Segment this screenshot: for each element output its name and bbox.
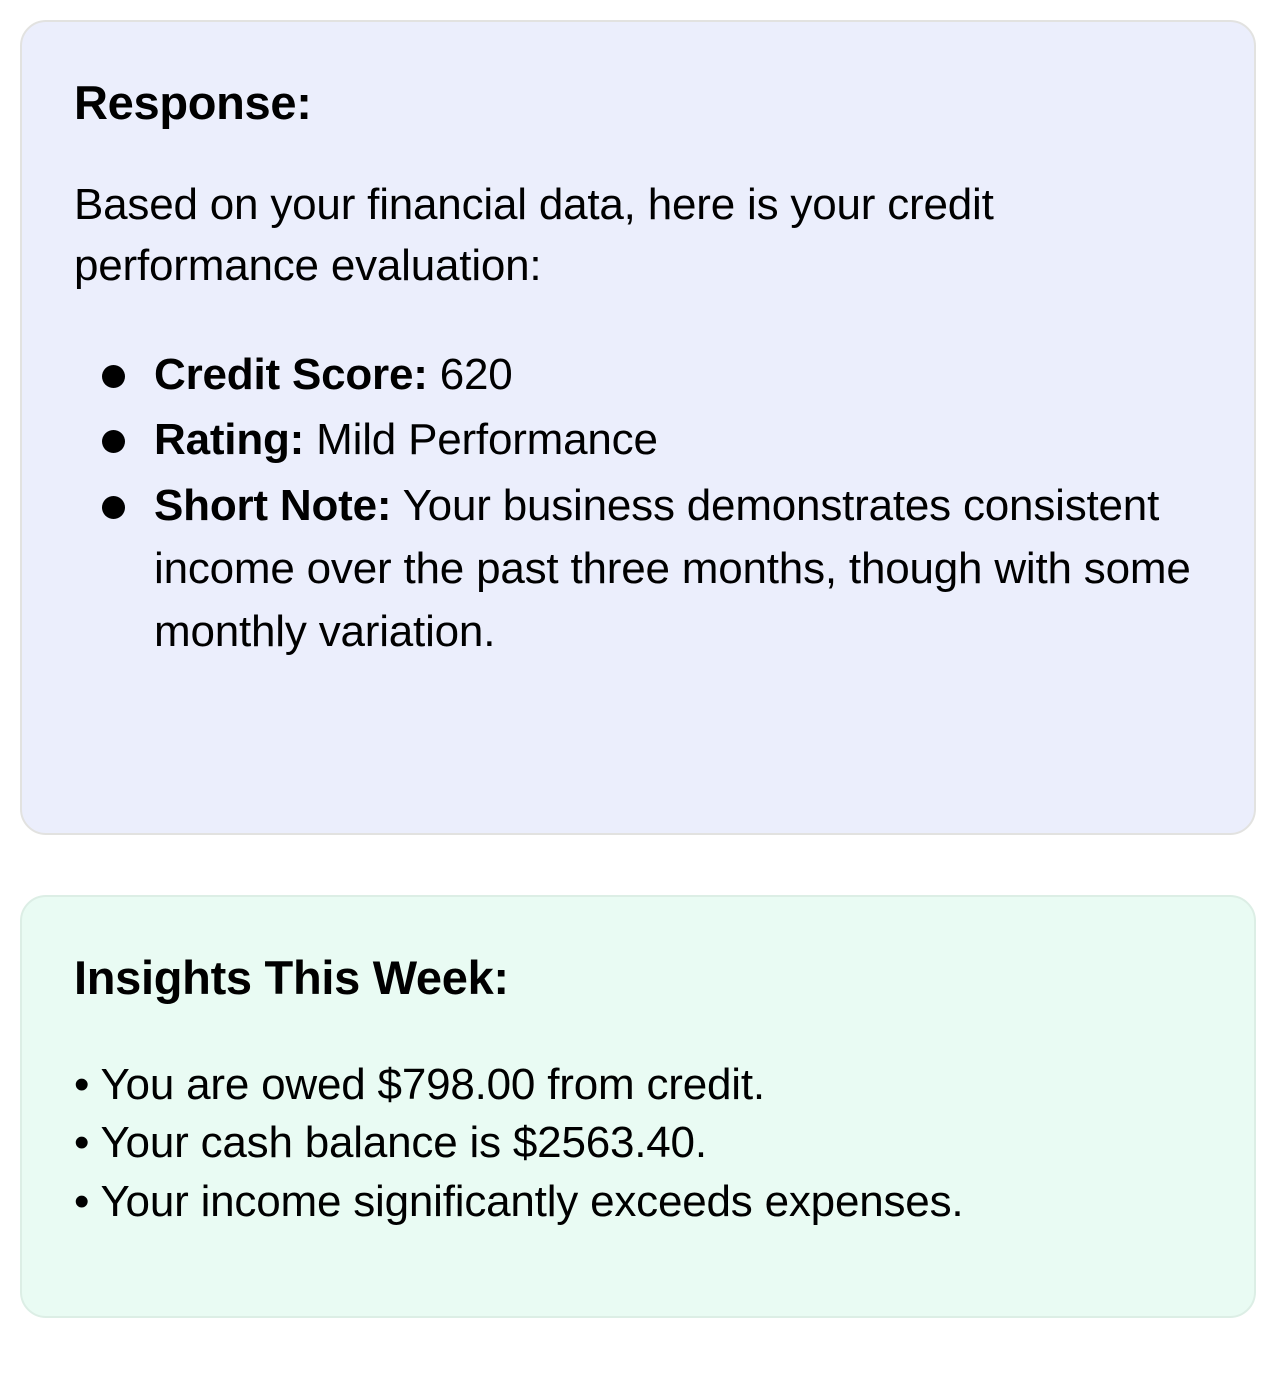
list-item: • Your income significantly exceeds expe… — [74, 1173, 1210, 1231]
insights-card-heading: Insights This Week: — [74, 953, 1210, 1002]
response-card: Response: Based on your financial data, … — [20, 20, 1256, 835]
response-card-heading: Response: — [74, 78, 1210, 127]
bullet-value: Mild Performance — [304, 415, 658, 464]
page-root: Response: Based on your financial data, … — [0, 0, 1276, 1396]
list-item: • You are owed $798.00 from credit. — [74, 1056, 1210, 1114]
insight-text: Your cash balance is $2563.40. — [100, 1118, 706, 1167]
list-item: Rating: Mild Performance — [74, 408, 1210, 471]
list-item: Short Note: Your business demonstrates c… — [74, 474, 1210, 664]
insight-text: You are owed $798.00 from credit. — [100, 1060, 764, 1109]
bullet-disc-icon — [102, 430, 125, 453]
list-item: Credit Score: 620 — [74, 343, 1210, 406]
response-bullet-list: Credit Score: 620 Rating: Mild Performan… — [74, 343, 1210, 664]
bullet-dot-icon: • — [74, 1118, 89, 1167]
bullet-dot-icon: • — [74, 1177, 89, 1226]
bullet-disc-icon — [102, 365, 125, 388]
bullet-label: Rating: — [154, 415, 304, 464]
bullet-disc-icon — [102, 496, 125, 519]
bullet-dot-icon: • — [74, 1060, 89, 1109]
bullet-value: 620 — [428, 350, 513, 399]
insights-line-list: • You are owed $798.00 from credit. • Yo… — [74, 1056, 1210, 1230]
response-intro-paragraph: Based on your financial data, here is yo… — [74, 175, 1210, 296]
insights-card: Insights This Week: • You are owed $798.… — [20, 895, 1256, 1318]
bullet-label: Short Note: — [154, 481, 391, 530]
bullet-label: Credit Score: — [154, 350, 428, 399]
list-item: • Your cash balance is $2563.40. — [74, 1114, 1210, 1172]
insight-text: Your income significantly exceeds expens… — [100, 1177, 963, 1226]
